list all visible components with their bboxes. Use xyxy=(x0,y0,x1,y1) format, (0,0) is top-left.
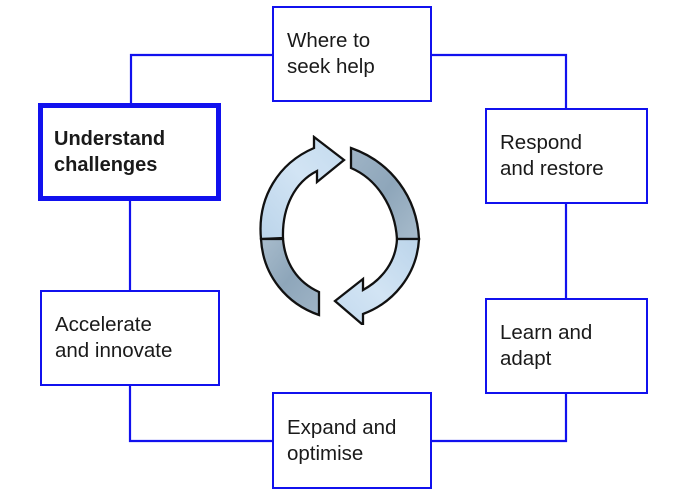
arrow-upper-left-light xyxy=(261,137,344,239)
node-label: Expand and optimise xyxy=(287,415,396,467)
connector-accelerate-to-expand xyxy=(130,386,272,441)
connector-seekhelp-to-understand xyxy=(131,55,272,103)
node-where-to-seek-help[interactable]: Where to seek help xyxy=(272,6,432,102)
circular-arrows-graphic xyxy=(247,135,437,325)
node-respond-and-restore[interactable]: Respond and restore xyxy=(485,108,648,204)
node-label: Accelerate and innovate xyxy=(55,312,172,364)
connector-learn-to-expand xyxy=(432,394,566,441)
node-label: Understand challenges xyxy=(54,126,165,178)
arrow-upper-right-dark xyxy=(351,148,419,239)
node-understand-challenges[interactable]: Understand challenges xyxy=(38,103,221,201)
arrow-lower-left-dark xyxy=(261,239,319,315)
arrow-lower-right-light xyxy=(335,239,419,325)
node-learn-and-adapt[interactable]: Learn and adapt xyxy=(485,298,648,394)
cycle-diagram: Where to seek help Respond and restore L… xyxy=(0,0,692,496)
node-accelerate-and-innovate[interactable]: Accelerate and innovate xyxy=(40,290,220,386)
node-label: Respond and restore xyxy=(500,130,604,182)
node-label: Learn and adapt xyxy=(500,320,592,372)
node-expand-and-optimise[interactable]: Expand and optimise xyxy=(272,392,432,489)
node-label: Where to seek help xyxy=(287,28,375,80)
connector-seekhelp-to-respond xyxy=(432,55,566,108)
